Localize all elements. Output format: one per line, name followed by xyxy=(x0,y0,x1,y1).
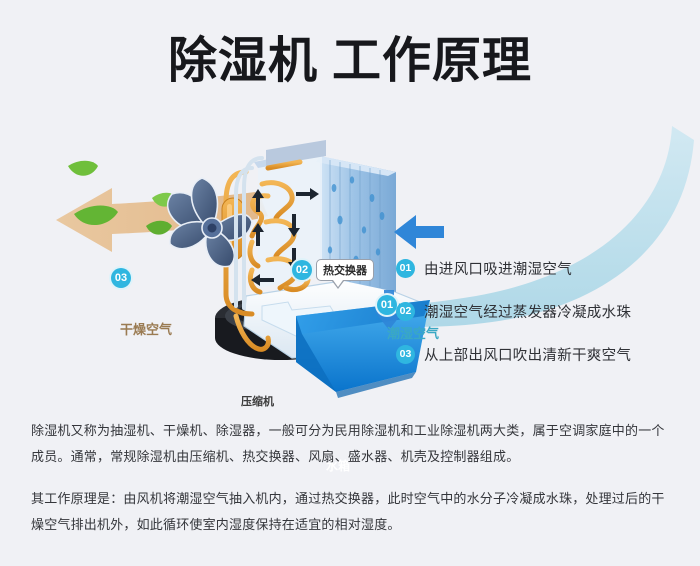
legend-text-03: 从上部出风口吹出清新干爽空气 xyxy=(424,344,631,365)
paragraph-1: 除湿机又称为抽湿机、干燥机、除湿器，一般可分为民用除湿机和工业除湿机两大类，属于… xyxy=(31,418,673,470)
paragraph-2: 其工作原理是：由风机将潮湿空气抽入机内，通过热交换器，此时空气中的水分子冷凝成水… xyxy=(31,486,673,538)
list-item: 01 由进风口吸进潮湿空气 xyxy=(396,256,686,280)
diagram-badge-03: 03 xyxy=(111,268,131,288)
list-item: 02 潮湿空气经过蒸发器冷凝成水珠 xyxy=(396,299,686,323)
legend-text-02: 潮湿空气经过蒸发器冷凝成水珠 xyxy=(424,301,631,322)
label-compressor: 压缩机 xyxy=(241,393,274,409)
diagram-badge-01: 01 xyxy=(377,295,397,315)
legend-badge-01: 01 xyxy=(396,259,415,278)
legend-text-01: 由进风口吸进潮湿空气 xyxy=(424,258,572,279)
title-part-2: 工作原理 xyxy=(332,34,532,88)
description-block: 除湿机又称为抽湿机、干燥机、除湿器，一般可分为民用除湿机和工业除湿机两大类，属于… xyxy=(31,418,673,538)
legend-badge-02: 02 xyxy=(396,302,415,321)
page-title: 除湿机工作原理 xyxy=(0,30,700,92)
infographic-page: 除湿机工作原理 xyxy=(0,0,700,566)
diagram-badge-02: 02 xyxy=(292,260,312,280)
callout-heat-exchanger: 热交换器 xyxy=(316,259,374,281)
arrow-right-icon xyxy=(394,215,444,249)
list-item: 03 从上部出风口吹出清新干爽空气 xyxy=(396,342,686,366)
title-part-1: 除湿机 xyxy=(168,34,318,88)
legend-badge-03: 03 xyxy=(396,345,415,364)
legend-list: 01 由进风口吸进潮湿空气 02 潮湿空气经过蒸发器冷凝成水珠 03 从上部出风… xyxy=(396,256,686,385)
label-dry-air: 干燥空气 xyxy=(120,319,172,338)
